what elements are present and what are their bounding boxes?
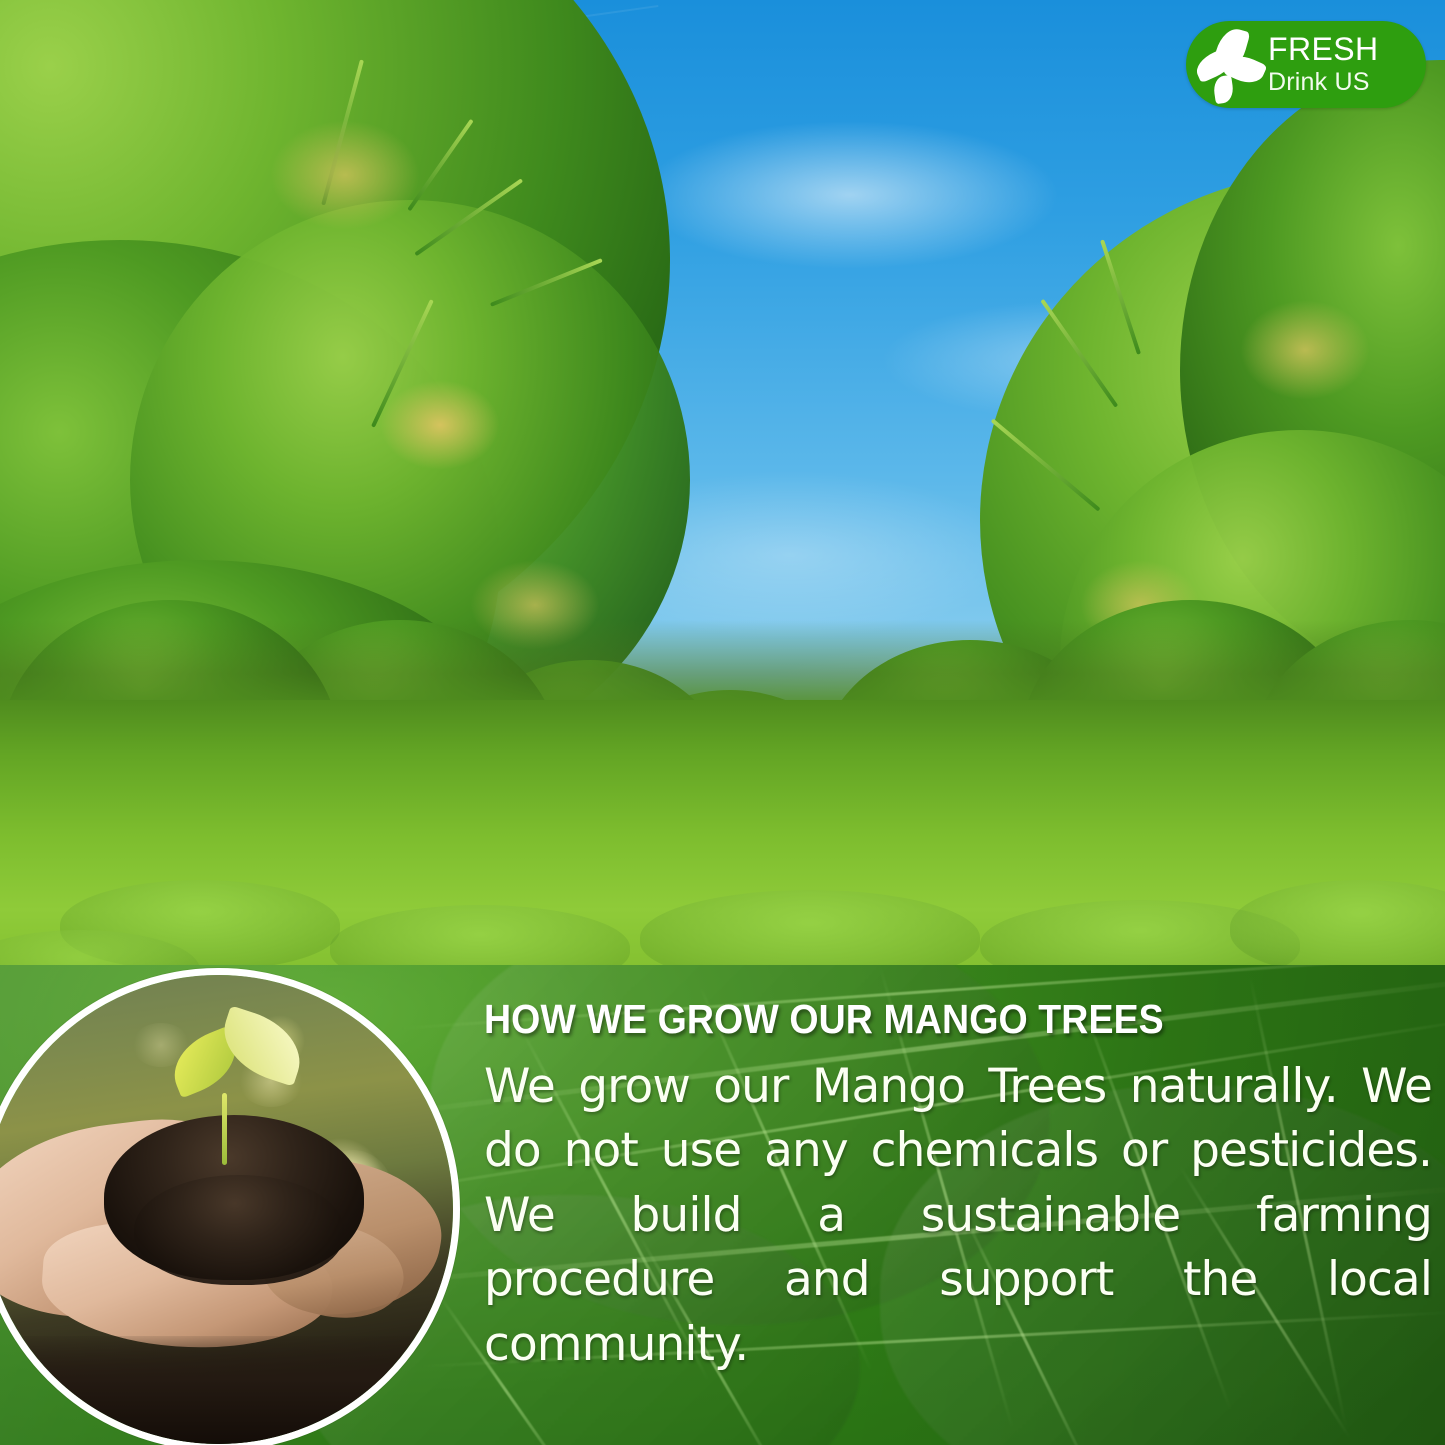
sprout-stem (222, 1093, 227, 1165)
four-leaf-icon (1186, 21, 1266, 108)
cloud (640, 120, 1060, 270)
mango-blossom (380, 380, 500, 470)
mango-blossom (1240, 300, 1370, 400)
ground-haze (0, 620, 1445, 710)
soil-mound (134, 1175, 344, 1285)
sprout-leaf-right (213, 1005, 311, 1086)
brand-name-primary: FRESH (1268, 33, 1378, 65)
orchard-photo (0, 0, 1445, 1000)
brand-logo[interactable]: FRESH Drink US (1186, 21, 1426, 108)
soil-ground (0, 1336, 453, 1444)
brand-wordmark: FRESH Drink US (1266, 33, 1378, 96)
brand-name-secondary: Drink US (1268, 68, 1378, 96)
mango-blossom (270, 120, 420, 230)
promotional-banner: HOW WE GROW OUR MANGO TREES We grow our … (0, 0, 1445, 1445)
panel-text-column: HOW WE GROW OUR MANGO TREES We grow our … (484, 998, 1432, 1377)
seedling-circle-photo (0, 968, 460, 1445)
hands-holding-seedling-image (0, 975, 453, 1444)
panel-heading: HOW WE GROW OUR MANGO TREES (484, 998, 1351, 1041)
panel-body-text: We grow our Mango Trees naturally. We do… (484, 1055, 1432, 1377)
circle-white-border (0, 968, 460, 1445)
